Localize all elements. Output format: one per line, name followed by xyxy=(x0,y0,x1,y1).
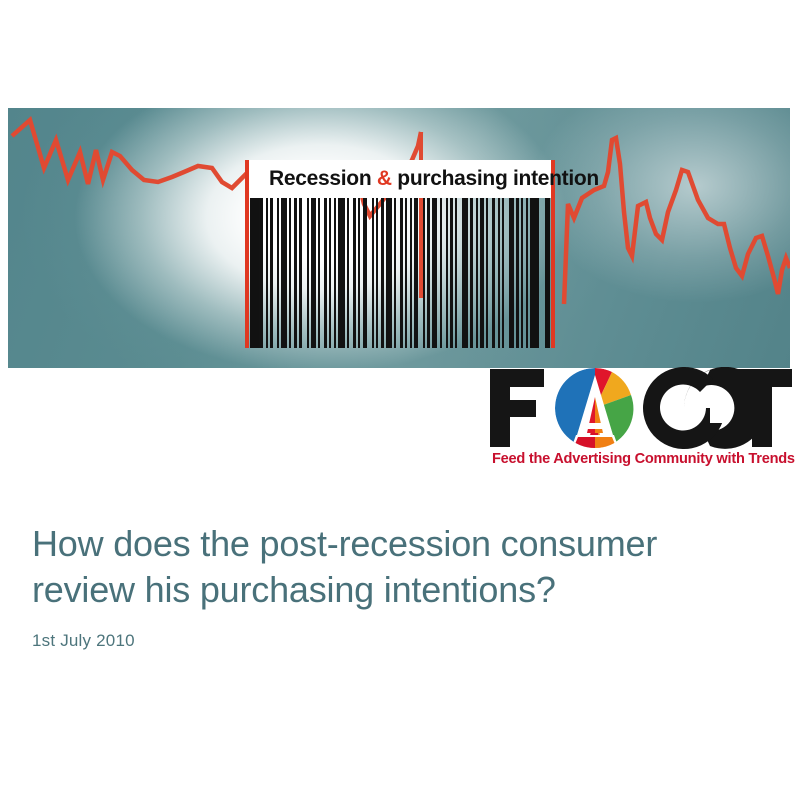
barcode-bar xyxy=(281,198,287,348)
barcode-bar xyxy=(526,198,528,348)
barcode-bar xyxy=(521,198,523,348)
barcode-bar xyxy=(405,198,407,348)
barcode-bar xyxy=(386,198,392,348)
barcode-bar xyxy=(311,198,316,348)
barcode-bar xyxy=(376,198,378,348)
barcode-bar xyxy=(498,198,500,348)
barcode-bar xyxy=(259,198,263,348)
barcode-bar xyxy=(470,198,473,348)
barcode-title: Recession & purchasing intention xyxy=(249,167,599,191)
fact-logo: Feed the Advertising Community with Tren… xyxy=(488,367,794,479)
barcode-bar xyxy=(324,198,327,348)
barcode-title-suffix: purchasing intention xyxy=(392,167,599,190)
barcode-bar xyxy=(486,198,488,348)
barcode-bar xyxy=(307,198,309,348)
logo-letter-a-wheel xyxy=(555,368,633,449)
barcode-bar xyxy=(372,198,374,348)
barcode-bar xyxy=(294,198,297,348)
barcode-bar xyxy=(516,198,519,348)
barcode-bar xyxy=(502,198,504,348)
barcode-bar xyxy=(353,198,356,348)
page-date: 1st July 2010 xyxy=(32,631,762,651)
barcode-graphic: Recession & purchasing intention xyxy=(245,160,555,348)
barcode-bar xyxy=(347,198,349,348)
page-title: How does the post-recession consumer rev… xyxy=(32,521,762,613)
barcode-bar xyxy=(440,198,442,348)
barcode-bar xyxy=(400,198,403,348)
barcode-bar xyxy=(289,198,291,348)
chart-line-right xyxy=(564,138,790,304)
barcode-bar xyxy=(277,198,279,348)
barcode-bar xyxy=(338,198,345,348)
title-block: How does the post-recession consumer rev… xyxy=(32,521,762,651)
barcode-bar xyxy=(394,198,396,348)
barcode-bar xyxy=(266,198,268,348)
barcode-bar xyxy=(509,198,514,348)
barcode-bar xyxy=(462,198,468,348)
logo-tagline: Feed the Advertising Community with Tren… xyxy=(492,451,794,467)
barcode-title-ampersand: & xyxy=(377,167,392,190)
barcode-bar xyxy=(318,198,320,348)
barcode-bar xyxy=(450,198,453,348)
barcode-bar xyxy=(358,198,360,348)
header-banner-image: Recession & purchasing intention xyxy=(8,108,790,368)
barcode-title-prefix: Recession xyxy=(269,167,377,190)
barcode-bar xyxy=(427,198,430,348)
logo-letter-f xyxy=(490,369,544,447)
barcode-bar xyxy=(363,198,367,348)
barcode-bar xyxy=(423,198,425,348)
barcode-bar xyxy=(476,198,478,348)
barcode-bar xyxy=(492,198,495,348)
barcode-bar xyxy=(410,198,412,348)
barcode-bar xyxy=(446,198,448,348)
fact-logo-mark xyxy=(488,367,794,449)
barcode-bar xyxy=(455,198,457,348)
barcode-bar xyxy=(334,198,336,348)
barcode-bar xyxy=(381,198,384,348)
barcode-bar xyxy=(329,198,331,348)
barcode-bar xyxy=(299,198,302,348)
barcode-bars xyxy=(259,198,528,348)
barcode-bar xyxy=(414,198,418,348)
barcode-bar xyxy=(270,198,273,348)
barcode-bar xyxy=(480,198,484,348)
barcode-bar xyxy=(432,198,437,348)
barcode-title-band: Recession & purchasing intention xyxy=(249,160,551,198)
